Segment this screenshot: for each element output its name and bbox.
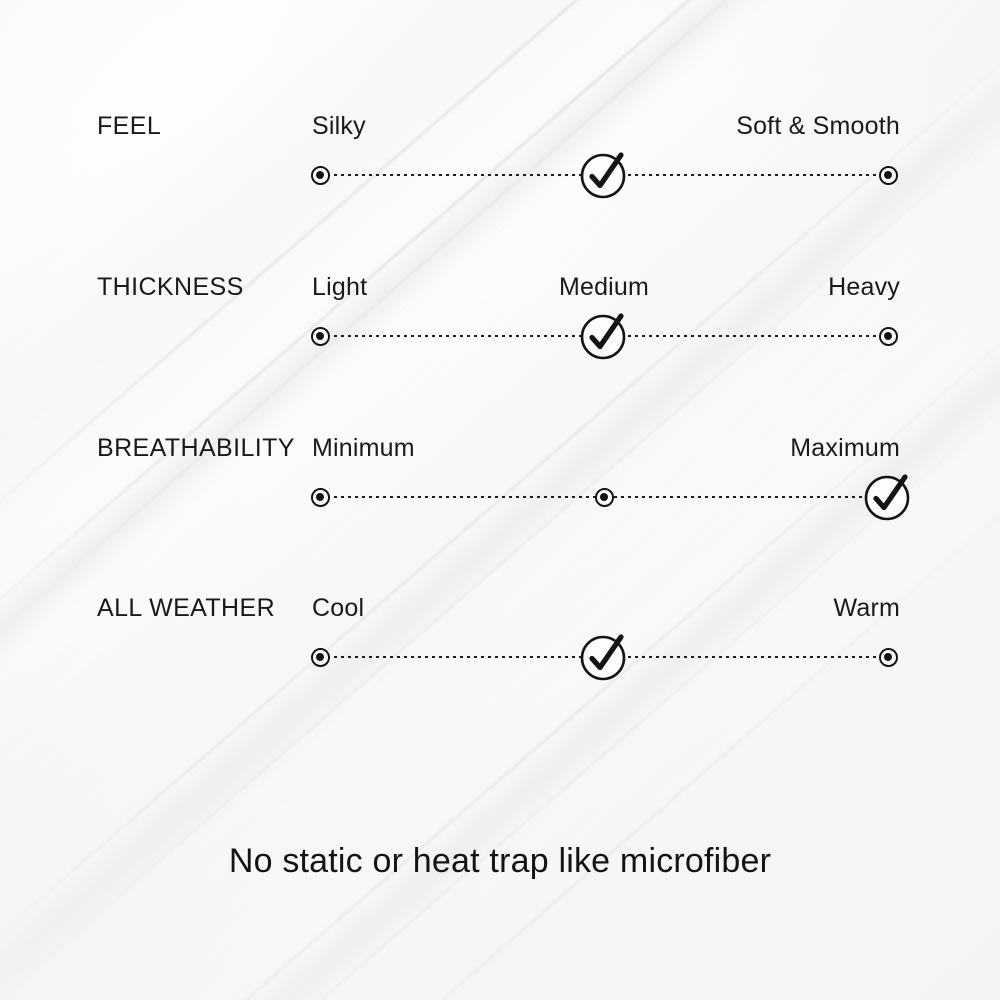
scale-tick-label-left: Cool [312,594,364,623]
dot-marker-icon [311,327,330,346]
attribute-name-feel: FEEL [97,112,161,141]
dot-marker-icon [879,327,898,346]
attribute-row-breathability: BREATHABILITY Minimum Maximum [0,434,1000,544]
scale-tick-label-right: Warm [833,594,900,623]
rating-scale-thickness[interactable]: Light Medium Heavy [320,273,888,383]
attribute-name-all-weather: ALL WEATHER [97,594,275,623]
rating-scale-breathability[interactable]: Minimum Maximum [320,434,888,544]
attribute-row-feel: FEEL Silky Soft & Smooth [0,112,1000,222]
check-circle-icon [860,469,916,525]
attribute-name-breathability: BREATHABILITY [97,434,295,463]
attribute-row-all-weather: ALL WEATHER Cool Warm [0,594,1000,704]
scale-tick-label-left: Silky [312,112,366,141]
product-attribute-infographic: FEEL Silky Soft & Smooth [0,0,1000,1000]
attribute-row-thickness: THICKNESS Light Medium Heavy [0,273,1000,383]
dot-marker-icon [595,488,614,507]
check-circle-icon [576,629,632,685]
dot-marker-icon [311,488,330,507]
rating-scale-all-weather[interactable]: Cool Warm [320,594,888,704]
dot-marker-icon [879,166,898,185]
dot-marker-icon [311,648,330,667]
attribute-list: FEEL Silky Soft & Smooth [0,0,1000,1000]
footer-caption: No static or heat trap like microfiber [0,842,1000,881]
dot-marker-icon [311,166,330,185]
check-circle-icon [576,308,632,364]
scale-tick-label-left: Minimum [312,434,415,463]
scale-tick-label-right: Heavy [828,273,900,302]
check-circle-icon [576,147,632,203]
scale-tick-label-right: Soft & Smooth [736,112,900,141]
scale-tick-label-mid: Medium [559,273,649,302]
dot-marker-icon [879,648,898,667]
scale-tick-label-right: Maximum [790,434,900,463]
rating-scale-feel[interactable]: Silky Soft & Smooth [320,112,888,222]
attribute-name-thickness: THICKNESS [97,273,244,302]
scale-tick-label-left: Light [312,273,367,302]
